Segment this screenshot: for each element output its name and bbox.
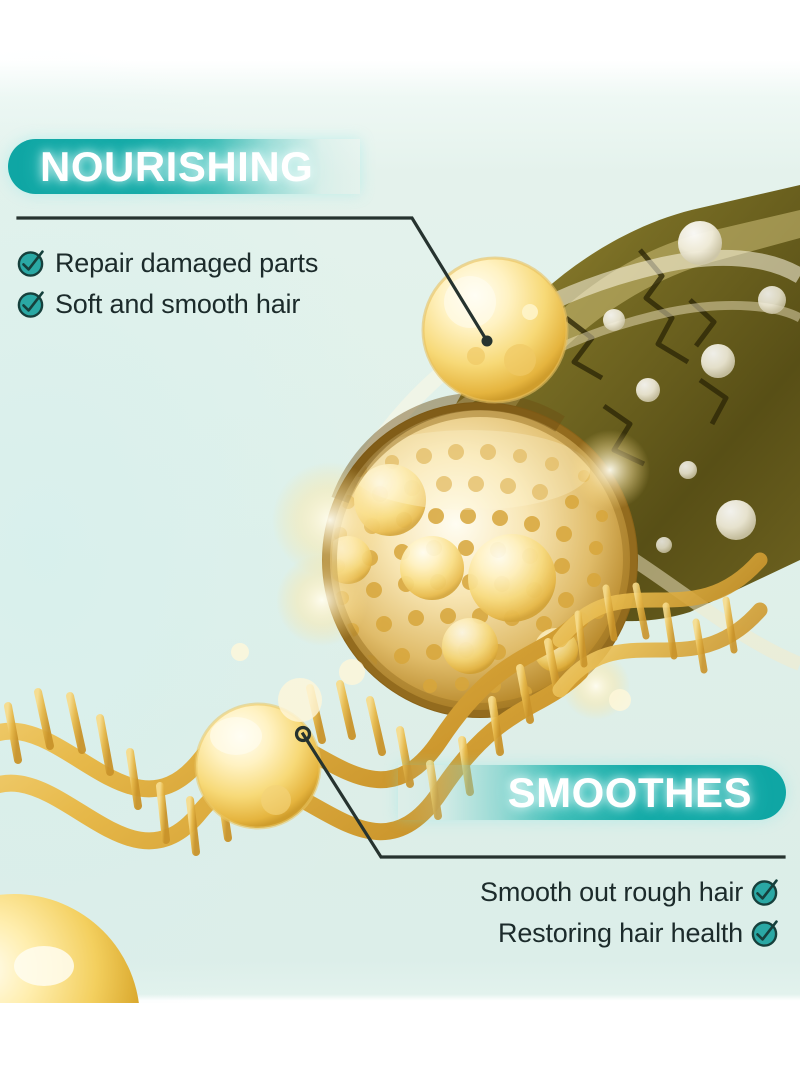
badge-nourishing-label: NOURISHING — [40, 146, 313, 188]
check-circle-icon — [750, 876, 782, 908]
list-item-label: Soft and smooth hair — [55, 289, 300, 319]
badge-nourishing: NOURISHING — [8, 139, 360, 194]
list-item: Smooth out rough hair — [480, 876, 782, 908]
list-item: Soft and smooth hair — [16, 288, 300, 320]
poster-canvas: NOURISHING Repair damaged parts Soft and… — [0, 0, 800, 1090]
oil-sphere-bottom-left — [0, 894, 140, 1090]
oil-droplet-dna — [196, 704, 320, 828]
list-item-label: Restoring hair health — [498, 918, 743, 948]
feature-list-nourishing: Repair damaged parts Soft and smooth hai… — [16, 247, 318, 320]
check-circle-icon — [16, 288, 48, 320]
feature-list-smoothes: Smooth out rough hair Restoring hair hea… — [480, 876, 782, 949]
list-item: Restoring hair health — [498, 917, 782, 949]
list-item-label: Smooth out rough hair — [480, 877, 743, 907]
check-circle-icon — [16, 247, 48, 279]
oil-droplet-large — [423, 258, 567, 402]
check-circle-icon — [750, 917, 782, 949]
list-item-label: Repair damaged parts — [55, 248, 318, 278]
badge-smoothes-label: SMOOTHES — [508, 772, 752, 814]
list-item: Repair damaged parts — [16, 247, 318, 279]
badge-smoothes: SMOOTHES — [398, 765, 786, 820]
